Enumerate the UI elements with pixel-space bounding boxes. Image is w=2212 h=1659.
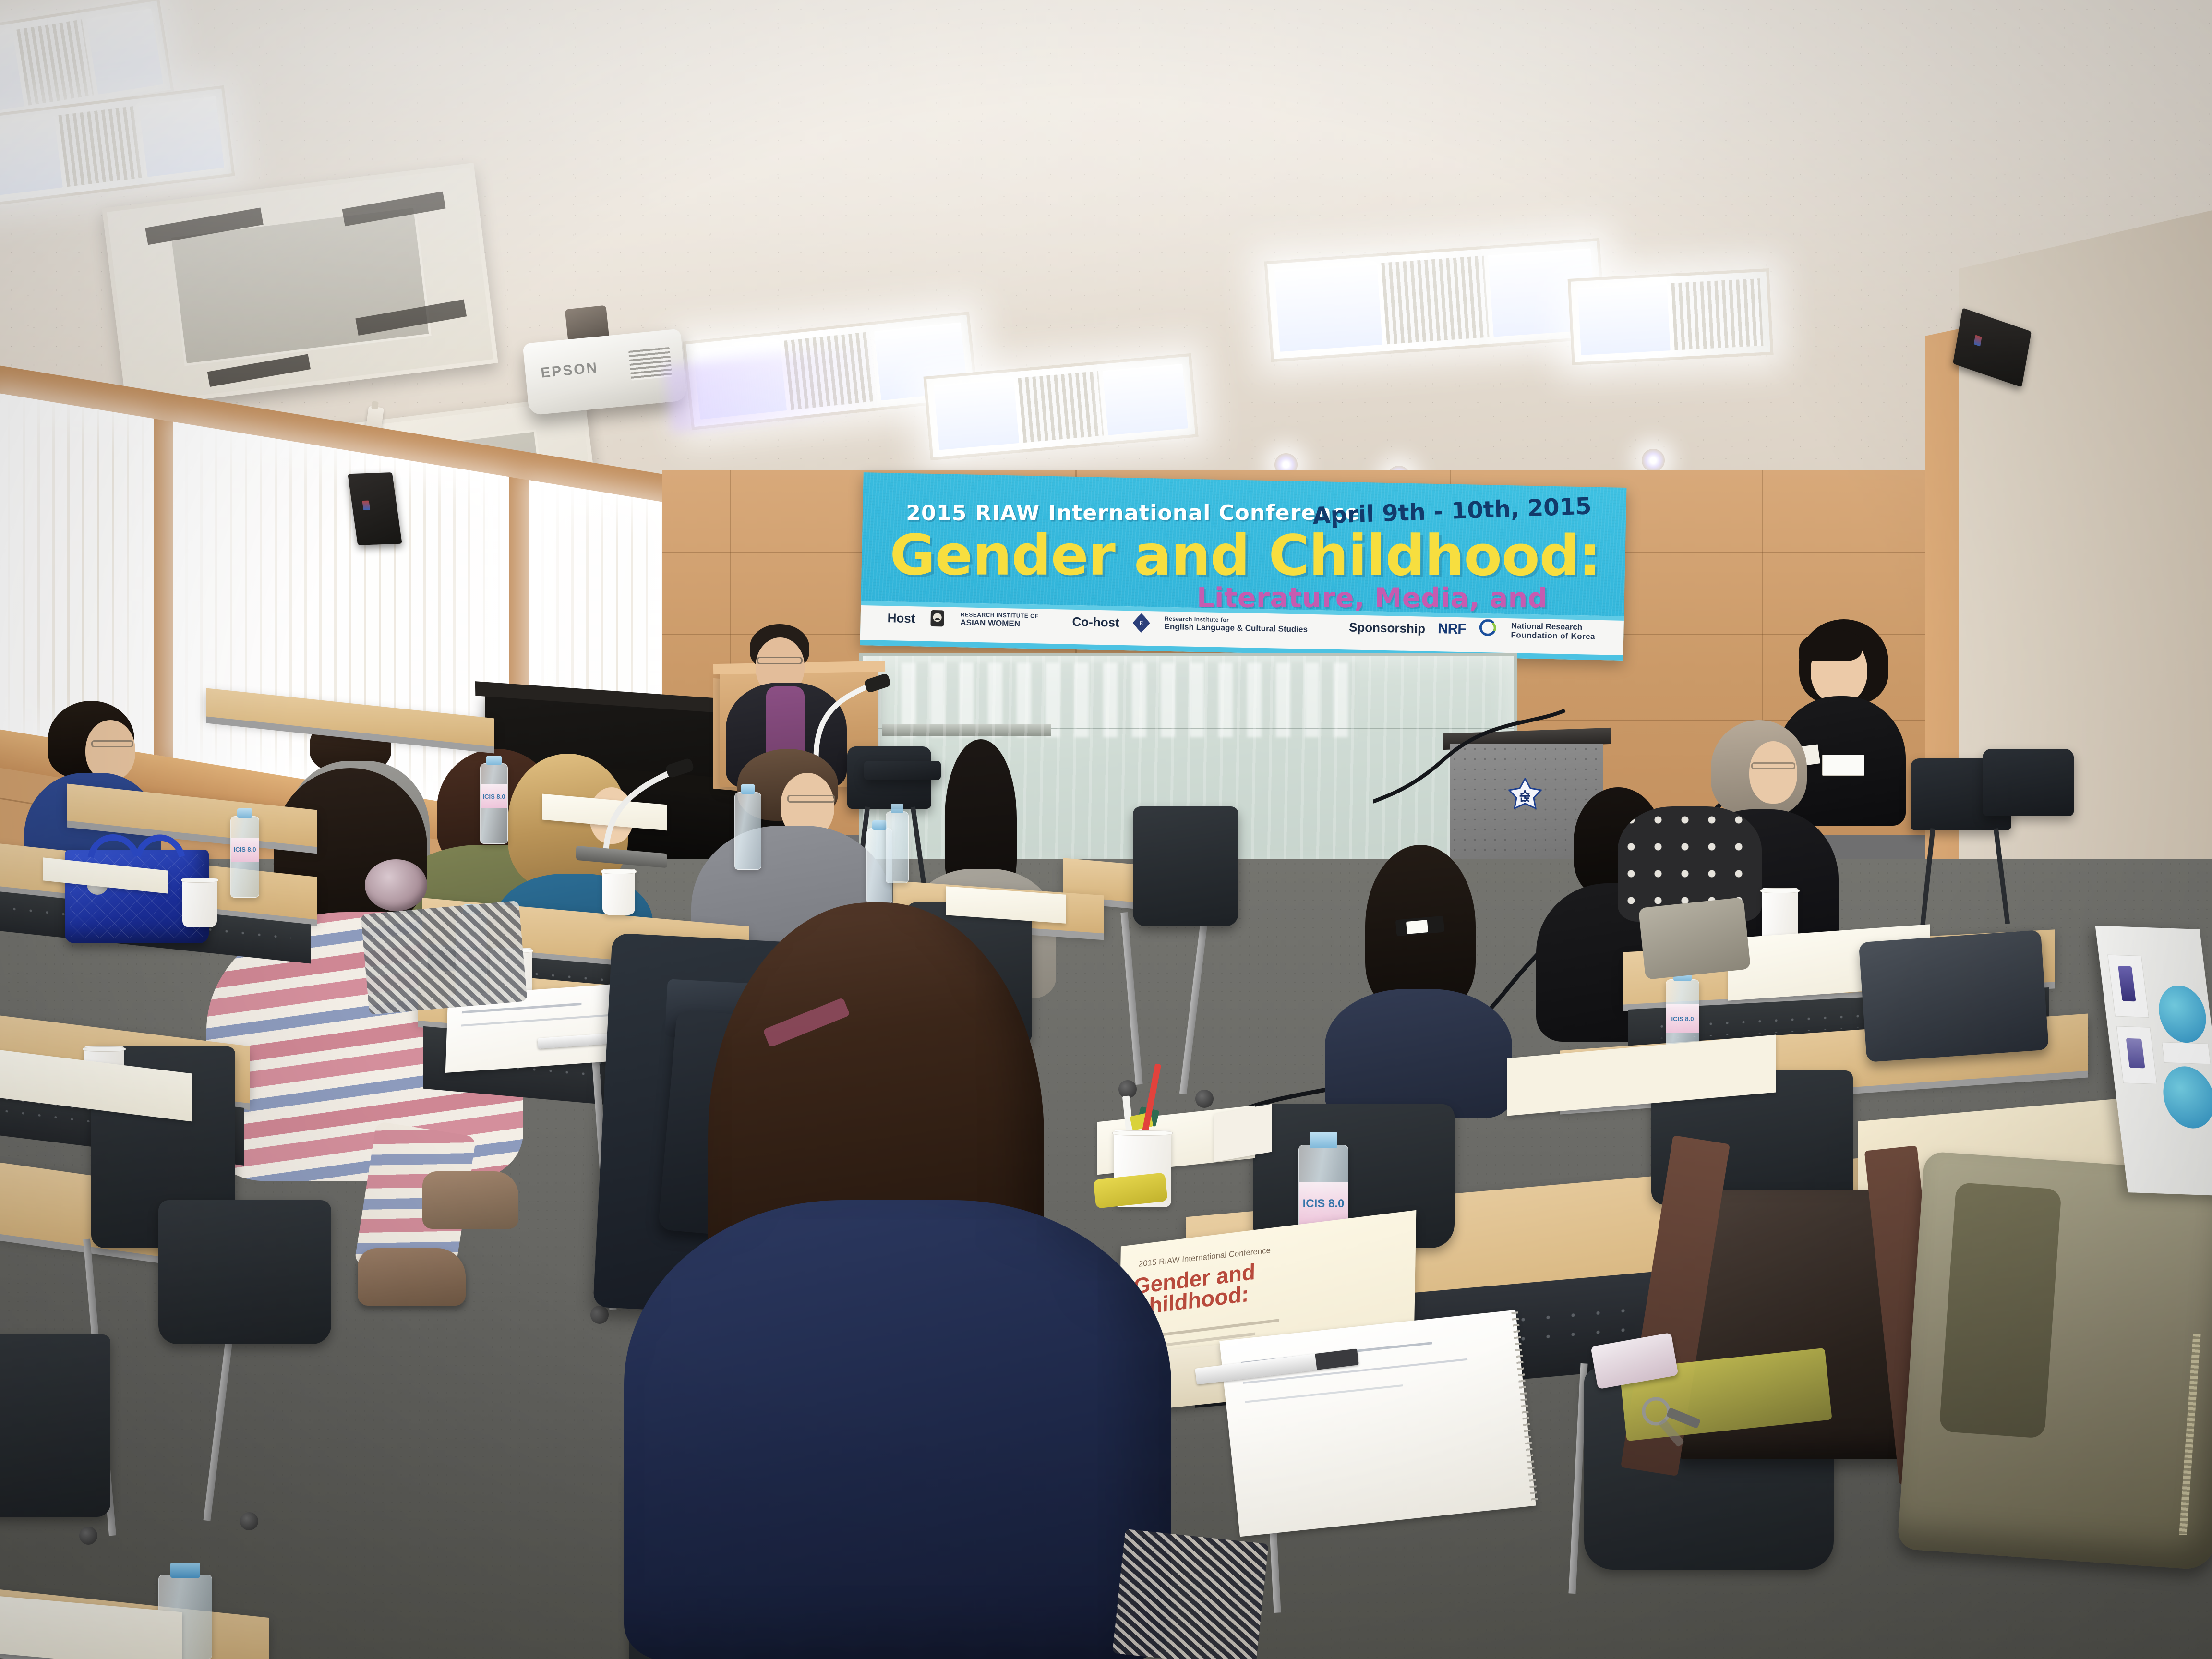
sponsor-org-line2: Foundation of Korea bbox=[1511, 630, 1595, 641]
bottle-cap bbox=[237, 808, 252, 818]
window-blinds[interactable] bbox=[0, 393, 154, 755]
desk-microphone[interactable] bbox=[595, 749, 706, 859]
cohost-label: Co-host bbox=[1072, 614, 1119, 630]
water-bottle: ICIS 8.0 bbox=[480, 763, 508, 844]
cohost-org: Research Institute for English Language … bbox=[1164, 615, 1308, 634]
folding-chair[interactable] bbox=[1983, 749, 2074, 816]
rielcs-crest-logo: E bbox=[1131, 612, 1152, 634]
host-org: RESEARCH INSTITUTE OF ASIAN WOMEN bbox=[960, 612, 1039, 629]
bottle-label: ICIS 8.0 bbox=[231, 838, 259, 862]
poster-graphic bbox=[2156, 985, 2210, 1043]
desk-caster bbox=[1195, 1090, 1214, 1108]
attendee-boot bbox=[358, 1248, 466, 1306]
paper-cup bbox=[182, 878, 217, 927]
whiteboard-marker-ledge bbox=[882, 724, 1052, 736]
ceiling-projector: EPSON bbox=[523, 329, 687, 416]
spiral-notebook bbox=[1219, 1310, 1536, 1537]
poster-cell bbox=[2116, 1026, 2157, 1084]
patterned-scarf bbox=[361, 901, 527, 1015]
host-label: Host bbox=[887, 611, 915, 626]
sponsor-org: National Research Foundation of Korea bbox=[1511, 621, 1595, 641]
bottle-cap bbox=[486, 756, 501, 765]
desk-caster bbox=[79, 1527, 97, 1545]
speaker-glasses-icon bbox=[757, 657, 803, 664]
ceiling-light-panel bbox=[0, 85, 235, 207]
projector-ceiling-mount bbox=[565, 305, 610, 343]
desk-caster bbox=[590, 1306, 609, 1324]
attendee-navy-sweater bbox=[624, 1200, 1171, 1659]
banner-title-text: Gender and Childhood: bbox=[890, 528, 1600, 584]
asian-women-seal-logo bbox=[927, 608, 948, 630]
water-bottle: ICIS 8.0 bbox=[230, 816, 259, 898]
desk-caster bbox=[240, 1512, 258, 1530]
attendee-glasses-icon bbox=[787, 795, 835, 803]
ceiling-light-panel bbox=[1568, 268, 1774, 365]
banner-kicker-text: 2015 RIAW International Conference bbox=[906, 501, 1359, 526]
bottle-label: ICIS 8.0 bbox=[481, 784, 507, 808]
ceiling-light-panel bbox=[683, 312, 978, 430]
attendee-navy-blazer bbox=[1325, 845, 1512, 1114]
projector-light-glow bbox=[664, 345, 877, 433]
attendee-hair-clip-highlight bbox=[1406, 920, 1428, 934]
host-org-name: ASIAN WOMEN bbox=[960, 618, 1020, 628]
jacket-zipper bbox=[2179, 1334, 2200, 1535]
ceiling-light-panel bbox=[1264, 238, 1607, 362]
attendee-glasses-icon bbox=[91, 740, 133, 747]
moderator-fringe bbox=[1799, 630, 1862, 661]
tote-bag bbox=[1638, 897, 1751, 980]
paper-cup bbox=[1762, 888, 1798, 940]
keys bbox=[1627, 1382, 1781, 1488]
bottle-cap bbox=[872, 820, 886, 830]
whiteboard-reflection bbox=[902, 663, 1357, 737]
water-bottle bbox=[734, 792, 761, 870]
poster-graphic bbox=[2160, 1066, 2212, 1130]
bottle-cap bbox=[891, 804, 903, 813]
svg-text:E: E bbox=[1140, 620, 1143, 627]
chair[interactable] bbox=[158, 1200, 331, 1344]
khaki-jacket bbox=[1897, 1151, 2212, 1571]
projector-brand-label: EPSON bbox=[540, 360, 599, 381]
bottle-label: ICIS 8.0 bbox=[1666, 1004, 1699, 1033]
conference-room-photo: EPSON bbox=[0, 0, 2212, 1659]
jacket-collar bbox=[1939, 1182, 2062, 1439]
water-bottle bbox=[886, 811, 909, 883]
nrf-swoosh-logo bbox=[1478, 619, 1499, 641]
attendee-patterned-skirt bbox=[1112, 1529, 1269, 1659]
conference-banner: 2015 RIAW International Conference Gende… bbox=[860, 472, 1627, 661]
projector-vent bbox=[628, 347, 673, 381]
attendee-hair-scrunchie bbox=[365, 859, 427, 911]
chair[interactable] bbox=[0, 1334, 110, 1517]
bottle-cap bbox=[1310, 1132, 1337, 1148]
attendee-navy-blazer-body bbox=[1325, 989, 1512, 1118]
ceiling-light-panel bbox=[0, 0, 174, 128]
attendee-front-navy bbox=[624, 902, 1176, 1659]
coat-on-chair-right bbox=[1859, 930, 2049, 1062]
attendee-head bbox=[85, 720, 135, 781]
ceiling-light-panel bbox=[923, 353, 1198, 460]
poster-cell bbox=[2107, 954, 2149, 1018]
name-tent-card bbox=[1214, 1104, 1272, 1162]
bottle-cap bbox=[170, 1563, 200, 1578]
attendee-boot bbox=[422, 1171, 518, 1229]
nrf-acronym: NRF bbox=[1438, 621, 1466, 637]
ceiling-downlight bbox=[1642, 449, 1665, 472]
sponsorship-label: Sponsorship bbox=[1349, 620, 1425, 636]
bottle-cap bbox=[741, 784, 755, 794]
ceiling-ac-unit bbox=[102, 163, 498, 409]
poster-cell bbox=[2162, 1042, 2211, 1064]
attendee-glasses-icon bbox=[1751, 762, 1795, 769]
